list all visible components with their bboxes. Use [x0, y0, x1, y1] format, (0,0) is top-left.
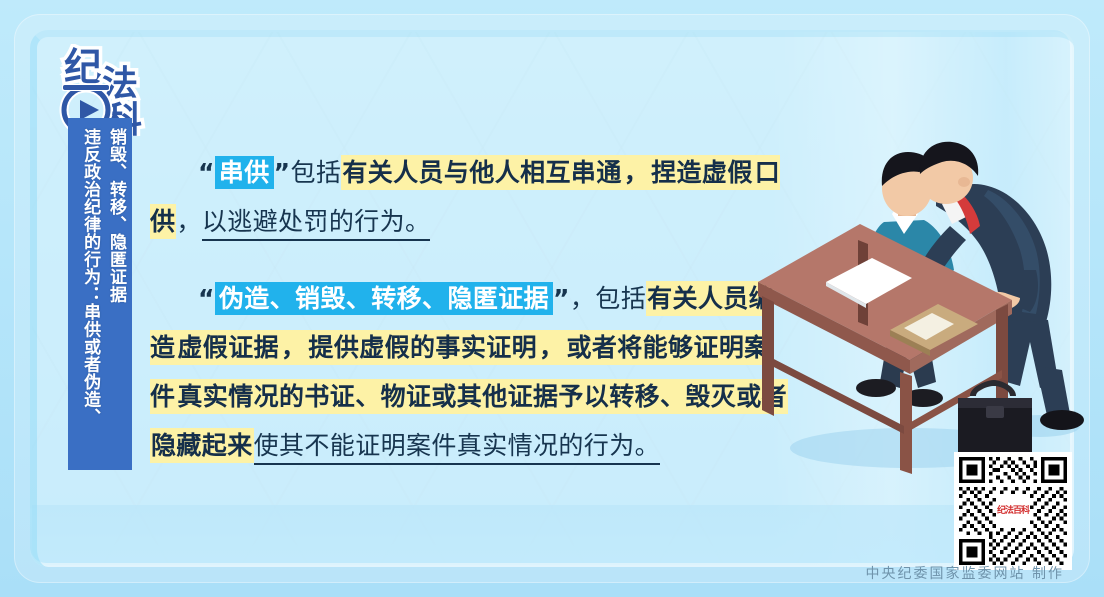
p2-quote-close: ” [553, 284, 570, 313]
paragraph-1: “串供”包括有关人员与他人相互串通，捏造虚假口供，以逃避处罚的行为。 [150, 148, 790, 246]
paragraph-2: “伪造、销毁、转移、隐匿证据”，包括有关人员编造虚假证据，提供虚假的事实证明，或… [150, 274, 790, 470]
vertical-title-banner: 销毁、转移、隐匿证据 违反政治纪律的行为：串供或者伪造、 [68, 118, 132, 470]
qr-center-logo: 纪法百科 [996, 494, 1030, 528]
qr-center-logo-label: 纪法百科 [997, 507, 1029, 516]
p2-comma-c: ， [538, 330, 565, 365]
logo-char-ji: 纪 [64, 45, 102, 89]
qr-code[interactable]: 纪法百科 [954, 452, 1072, 570]
p2-highlight-line4: 隐藏起来 [150, 428, 254, 463]
p2-highlight-line2a: 虚假证据 [176, 330, 280, 365]
p2-highlight-line2b: 提供虚假的事实证明 [307, 330, 538, 365]
play-icon [80, 100, 99, 120]
p2-term: 伪造、销毁、转移、隐匿证据 [215, 282, 553, 315]
p1-highlight-b: 捏造虚假 [650, 155, 754, 190]
p1-comma-b: ， [176, 207, 201, 236]
p2-highlight-line3: 真实情况的书证、物证或其他证据予以转移、毁灭或者 [176, 379, 788, 414]
p1-lead: 包括 [291, 158, 342, 187]
banner-column-left: 违反政治纪律的行为：串供或者伪造、 [76, 128, 102, 426]
p2-quote-open: “ [198, 284, 215, 313]
p2-lead: 包括 [595, 284, 646, 313]
footer-credit: 中央纪委国家监委网站 制作 [866, 563, 1064, 583]
ear [958, 177, 970, 187]
p1-quote-open: “ [198, 158, 215, 187]
poster-canvas: 纪 法 科 销毁、转移、隐匿证据 违反政治纪律的行为：串供或者伪造、 “串供”包… [0, 0, 1104, 597]
p1-highlight-a: 有关人员与他人相互串通 [341, 155, 622, 190]
p1-term: 串供 [215, 156, 274, 189]
shoe-left [856, 379, 896, 397]
main-text-content: “串供”包括有关人员与他人相互串通，捏造虚假口供，以逃避处罚的行为。 “伪造、销… [150, 148, 790, 486]
p2-comma-a: ， [570, 284, 595, 313]
briefcase-latch [986, 406, 1004, 418]
p2-tail: 使其不能证明案件真实情况的行为。 [254, 431, 660, 465]
shoe-navy-right [1040, 410, 1084, 430]
p1-comma-a: ， [623, 155, 650, 190]
isometric-illustration [740, 130, 1104, 490]
p2-comma-b: ， [280, 330, 307, 365]
banner-column-right: 销毁、转移、隐匿证据 [102, 128, 128, 303]
p1-quote-close: ” [274, 158, 291, 187]
p1-tail: 以逃避处罚的行为。 [202, 207, 431, 241]
